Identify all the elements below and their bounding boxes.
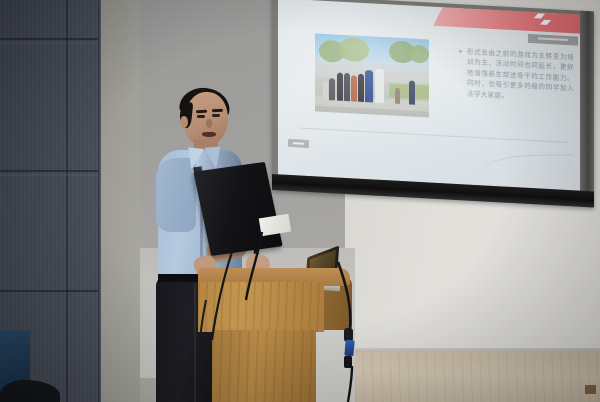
photo-tree [409, 44, 429, 63]
photo-person [375, 69, 384, 103]
wall-gap [101, 0, 140, 402]
photo-person [409, 80, 415, 104]
photo-person [329, 78, 335, 100]
slide-header-tag [528, 34, 578, 46]
trouser-crease [194, 284, 196, 402]
presenter-ear [180, 116, 188, 128]
photo-scene: ➤ 形式会由之前的游戏为主转变为培训为主，活动时间也同延长，更好地增强新生部述骨… [0, 0, 600, 402]
photo-person [344, 73, 350, 101]
cable-connector-tip [344, 356, 352, 368]
panel-seam [0, 290, 100, 292]
floor-notch [585, 385, 596, 394]
slide-swoosh-decoration [481, 154, 575, 182]
slide-bullet: ➤ 形式会由之前的游戏为主转变为培训为主，活动时间也同延长，更好地增强新生部述骨… [458, 46, 574, 104]
panel-seam [0, 42, 100, 44]
panel-wall-edge [98, 0, 101, 402]
screen-right-edge [580, 11, 594, 208]
photo-person [395, 88, 400, 104]
photo-person [351, 75, 357, 101]
slide-bullet-text: 形式会由之前的游戏为主转变为培训为主，活动时间也同延长，更好地增强新生部述骨干的… [467, 47, 574, 105]
bullet-arrow-icon: ➤ [458, 49, 463, 55]
floor-grain [355, 352, 600, 402]
slide-page-button[interactable] [288, 139, 309, 148]
panel-vertical-seam [66, 0, 68, 402]
photo-person [365, 70, 373, 102]
photo-person [337, 73, 343, 101]
panel-seam [0, 38, 100, 40]
slide-photo [314, 32, 430, 118]
presenter-sleeve [156, 158, 196, 232]
presenter-eyebrow [212, 109, 223, 112]
photo-person [323, 82, 328, 100]
presenter-nose [206, 119, 212, 128]
slide-divider [300, 128, 568, 144]
presenter-eye [212, 114, 220, 117]
podium-front-face [198, 282, 324, 332]
panel-seam [0, 174, 100, 176]
photo-person [358, 74, 364, 102]
presenter-eye [197, 115, 205, 118]
projection-screen: ➤ 形式会由之前的游戏为主转变为培训为主，活动时间也同延长，更好地增强新生部述骨… [272, 0, 594, 207]
presenter-mouth [202, 132, 216, 137]
panel-seam [0, 170, 100, 172]
screen-surface: ➤ 形式会由之前的游戏为主转变为培训为主，活动时间也同延长，更好地增强新生部述骨… [278, 0, 580, 191]
blue-cable-connector [344, 340, 354, 357]
podium-column [212, 330, 316, 402]
